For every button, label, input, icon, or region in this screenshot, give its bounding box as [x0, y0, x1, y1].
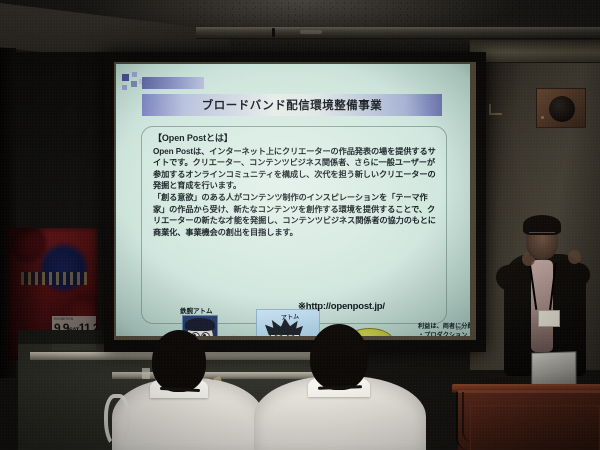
wall-speaker: [536, 88, 586, 128]
presenter-hand-right: [568, 250, 581, 264]
slide-body-heading: 【Open Postとは】: [153, 133, 439, 145]
podium-front-panel: [470, 405, 600, 450]
right-wall-header-trim: [470, 40, 600, 63]
podium: [458, 390, 600, 450]
slide-title-bar: ブロードバンド配信環境整備事業: [142, 94, 442, 116]
ceiling-light-rail: [196, 27, 600, 39]
audience-member-left: [108, 330, 268, 450]
slide-body-paragraph-1: Open Postは、インターネット上にクリエーターの作品発表の場を提供するサイ…: [153, 146, 439, 192]
audience-right-head: [310, 324, 368, 390]
power-cable-2: [462, 392, 476, 442]
deco-square-1-icon: [122, 74, 129, 81]
speaker-cone-icon: [549, 96, 575, 122]
deco-square-4-icon: [131, 81, 137, 87]
deco-square-2-icon: [132, 72, 137, 77]
presenter-glasses-icon: [529, 232, 555, 239]
slide-body-paragraph-2: 「創る意欲」のある人がコンテンツ制作のインスピレーションを「テーマ作家」の作品か…: [153, 192, 439, 238]
presenter-name-badge: [538, 310, 560, 327]
speaker-led-icon: [541, 116, 544, 119]
remix-art-title: アトム: [281, 311, 300, 322]
audience-member-right: [252, 324, 428, 450]
diagram-source-label: 鉄腕アトム: [180, 305, 213, 315]
audience-left-bag-strap: [104, 394, 130, 448]
ceiling-fixture-icon: [272, 28, 275, 37]
wall-hook-icon: [489, 104, 502, 115]
projected-slide: ブロードバンド配信環境整備事業 【Open Postとは】 Open Postは…: [116, 64, 470, 336]
slide-footnote-url: ※http://openpost.jp/: [298, 301, 385, 312]
slide-body-text: 【Open Postとは】 Open Postは、インターネット上にクリエーター…: [153, 133, 439, 238]
slide-title: ブロードバンド配信環境整備事業: [202, 97, 383, 113]
slide-page-number: 26: [456, 326, 462, 332]
ceiling-vent-icon: [300, 30, 322, 34]
deco-square-3-icon: [122, 85, 127, 90]
presentation-room-photo: EXHIBITION 9.9SAT11.2 ■■■■■ ■■■ ■■■■■■■■…: [0, 0, 600, 450]
slide-body-box: 【Open Postとは】 Open Postは、インターネット上にクリエーター…: [141, 126, 447, 324]
deco-gradient-bar: [142, 77, 204, 89]
audience-left-head: [152, 330, 206, 392]
